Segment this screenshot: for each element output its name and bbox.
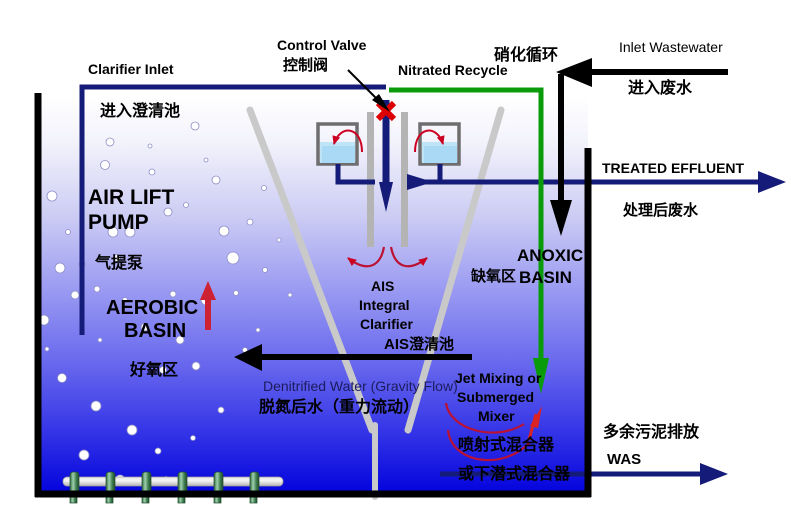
label-air-lift-pump-cn: 气提泵: [95, 255, 143, 273]
label-denitrified-water-en: Denitrified Water (Gravity Flow): [263, 379, 458, 395]
label-anoxic-basin-line2: BASIN: [519, 268, 572, 287]
label-was-cn: 多余污泥排放: [603, 424, 699, 442]
label-air-lift-pump-line1: AIR LIFT: [88, 186, 174, 210]
label-inlet-wastewater-en: Inlet Wastewater: [619, 40, 723, 56]
label-aerobic-basin-line2: BASIN: [124, 320, 186, 342]
label-anoxic-basin-line1: ANOXIC: [517, 246, 583, 265]
label-jet-mixing-line1: Jet Mixing or: [455, 371, 541, 387]
label-nitrated-recycle-en: Nitrated Recycle: [398, 63, 508, 79]
label-ais-clarifier-line2: Integral: [359, 298, 410, 314]
label-denitrified-water-cn: 脱氮后水（重力流动）: [259, 399, 419, 417]
label-ais-clarifier-line3: Clarifier: [360, 317, 413, 333]
label-air-lift-pump-line2: PUMP: [88, 211, 149, 235]
label-anoxic-basin-cn: 缺氧区: [471, 269, 516, 286]
label-ais-clarifier-line1: AIS: [371, 279, 394, 295]
label-treated-effluent-cn: 处理后废水: [623, 203, 698, 220]
label-control-valve-cn: 控制阀: [283, 58, 328, 75]
label-ais-clarifier-cn: AIS澄清池: [384, 337, 454, 354]
label-aerobic-basin-line1: AEROBIC: [106, 297, 198, 319]
label-was-en: WAS: [607, 452, 641, 469]
label-clarifier-inlet-cn: 进入澄清池: [100, 103, 180, 121]
process-diagram: Clarifier Inlet 进入澄清池 Control Valve 控制阀 …: [0, 0, 791, 517]
label-nitrated-recycle-cn: 硝化循环: [494, 47, 558, 65]
label-jet-mixing-line3: Mixer: [478, 409, 515, 425]
label-aerobic-basin-cn: 好氧区: [130, 362, 178, 380]
label-jet-mixing-cn-line1: 喷射式混合器: [458, 437, 554, 455]
label-jet-mixing-cn-line2: 或下潜式混合器: [458, 466, 570, 484]
label-clarifier-inlet-en: Clarifier Inlet: [88, 62, 174, 78]
label-jet-mixing-line2: Submerged: [457, 390, 534, 406]
label-inlet-wastewater-cn: 进入废水: [628, 80, 692, 98]
label-control-valve-en: Control Valve: [277, 38, 366, 54]
label-treated-effluent-en: TREATED EFFLUENT: [602, 161, 744, 177]
